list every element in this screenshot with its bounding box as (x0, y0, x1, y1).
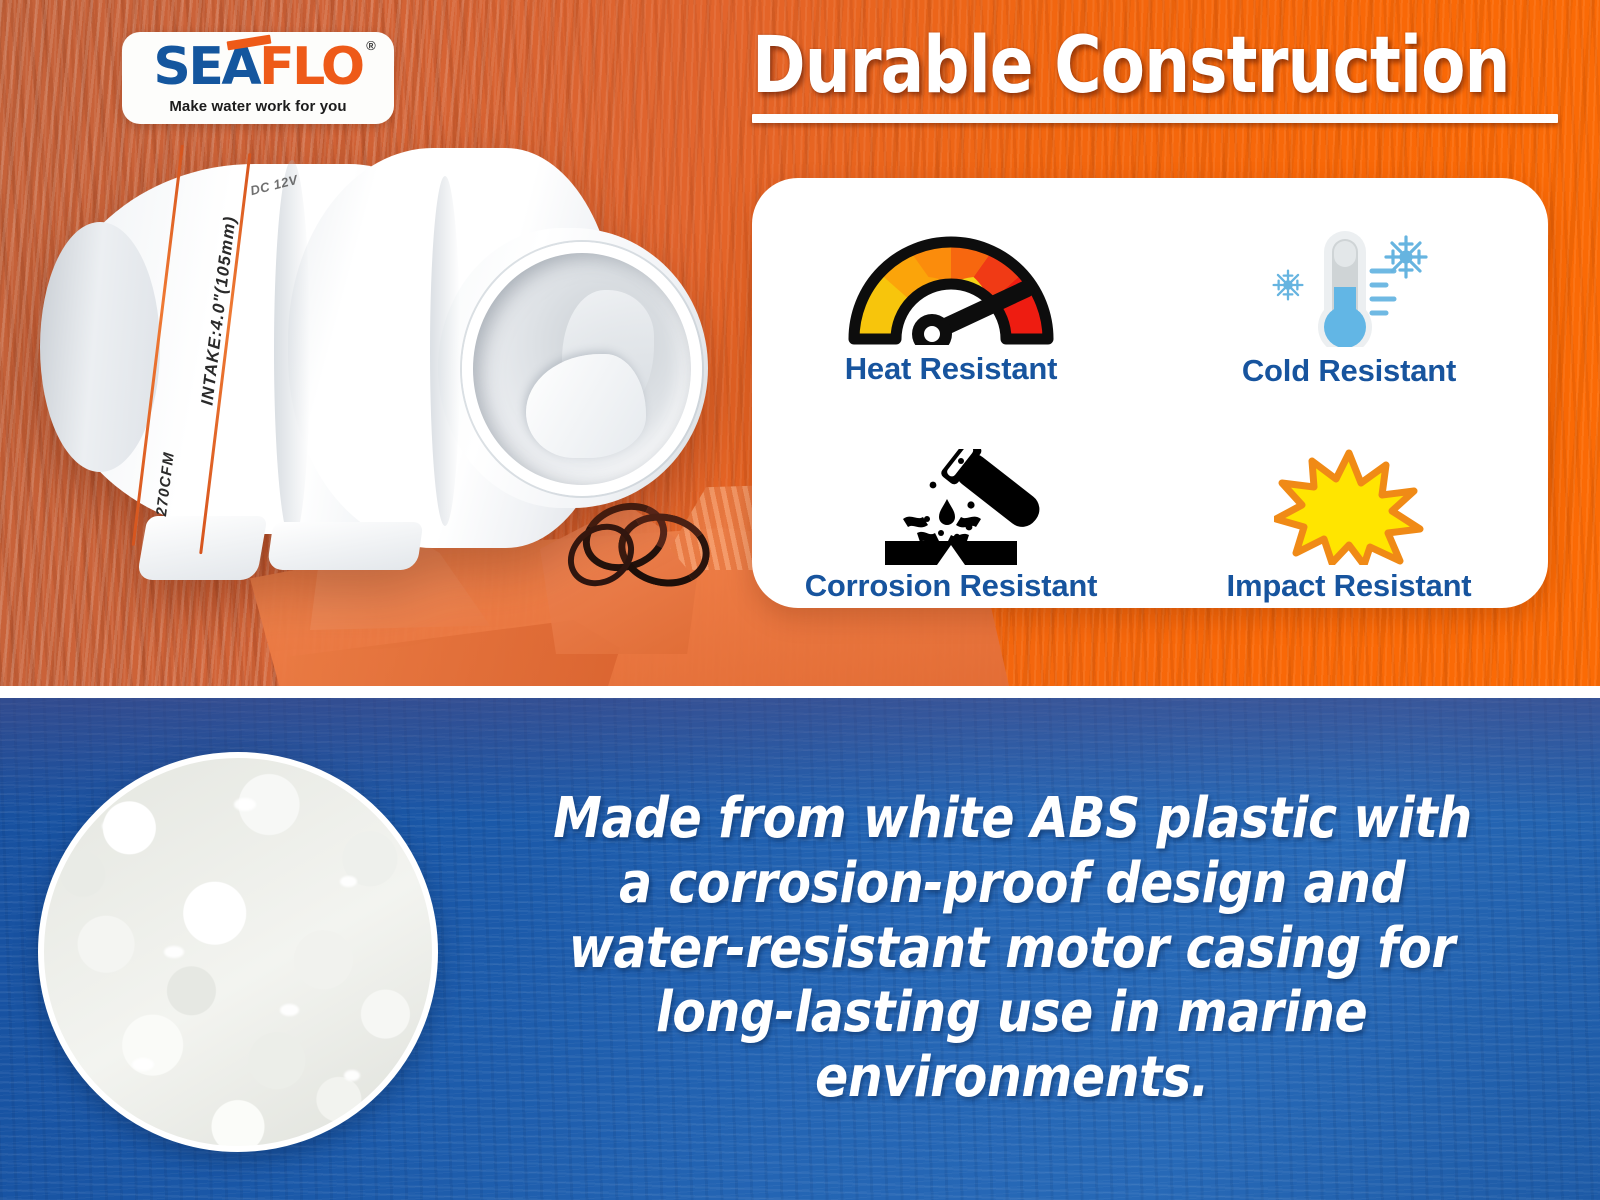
feature-label: Heat Resistant (845, 351, 1058, 387)
feature-corrosion-resistant: Corrosion Resistant (752, 393, 1150, 608)
pellet-highlight (280, 1004, 299, 1016)
starburst-icon (1274, 448, 1424, 566)
gauge-icon (836, 227, 1066, 345)
feature-label: Cold Resistant (1242, 353, 1456, 389)
logo-text-flo: FLO (259, 41, 363, 93)
description-line: a corrosion-proof design and (619, 852, 1405, 917)
pellet-highlight (340, 876, 357, 887)
pellet-highlight (164, 946, 184, 958)
thermometer-snowflake-icon (1244, 227, 1454, 347)
pellet-highlight (132, 1058, 154, 1071)
pellet-highlight (234, 798, 256, 811)
feature-cold-resistant: Cold Resistant (1150, 178, 1548, 393)
headline-underline (752, 114, 1558, 123)
headline-block: Durable Construction (752, 28, 1568, 123)
page-title: Durable Construction (752, 28, 1503, 104)
product-cfm-label: 270CFM (139, 334, 192, 634)
features-card: Heat Resistant (752, 178, 1548, 608)
logo-tagline: Make water work for you (169, 98, 346, 115)
feature-label: Impact Resistant (1227, 568, 1472, 604)
blower-mount-foot-2 (267, 522, 424, 570)
feature-impact-resistant: Impact Resistant (1150, 393, 1548, 608)
logo-wordmark: SE A FLO ® (153, 41, 362, 93)
blower-outlet-lip (462, 242, 702, 496)
description-line: water-resistant motor casing for (569, 917, 1455, 982)
top-orange-panel: INTAKE:4.0"(105mm) 270CFM DC 12V SE A FL… (0, 0, 1600, 686)
feature-heat-resistant: Heat Resistant (752, 178, 1150, 393)
feature-label: Corrosion Resistant (805, 568, 1097, 604)
corrosive-icon (841, 448, 1061, 566)
logo-text-se: SE (153, 41, 221, 93)
description-line: environments. (815, 1046, 1209, 1111)
seaflo-logo: SE A FLO ® Make water work for you (122, 32, 394, 124)
description-line: long-lasting use in marine (656, 981, 1367, 1046)
description-line: Made from white ABS plastic with (553, 787, 1472, 852)
product-image-marine-blower: INTAKE:4.0"(105mm) 270CFM DC 12V (38, 130, 718, 600)
registered-mark-icon: ® (366, 39, 376, 52)
pellet-highlight (102, 820, 120, 832)
blower-rib-2 (430, 176, 460, 526)
abs-pellets-photo (38, 752, 438, 1152)
description-block: Made from white ABS plastic with a corro… (452, 734, 1572, 1164)
blower-rib-1 (274, 160, 310, 542)
bottom-blue-panel: Made from white ABS plastic with a corro… (0, 698, 1600, 1200)
pellet-highlight (344, 1070, 360, 1081)
